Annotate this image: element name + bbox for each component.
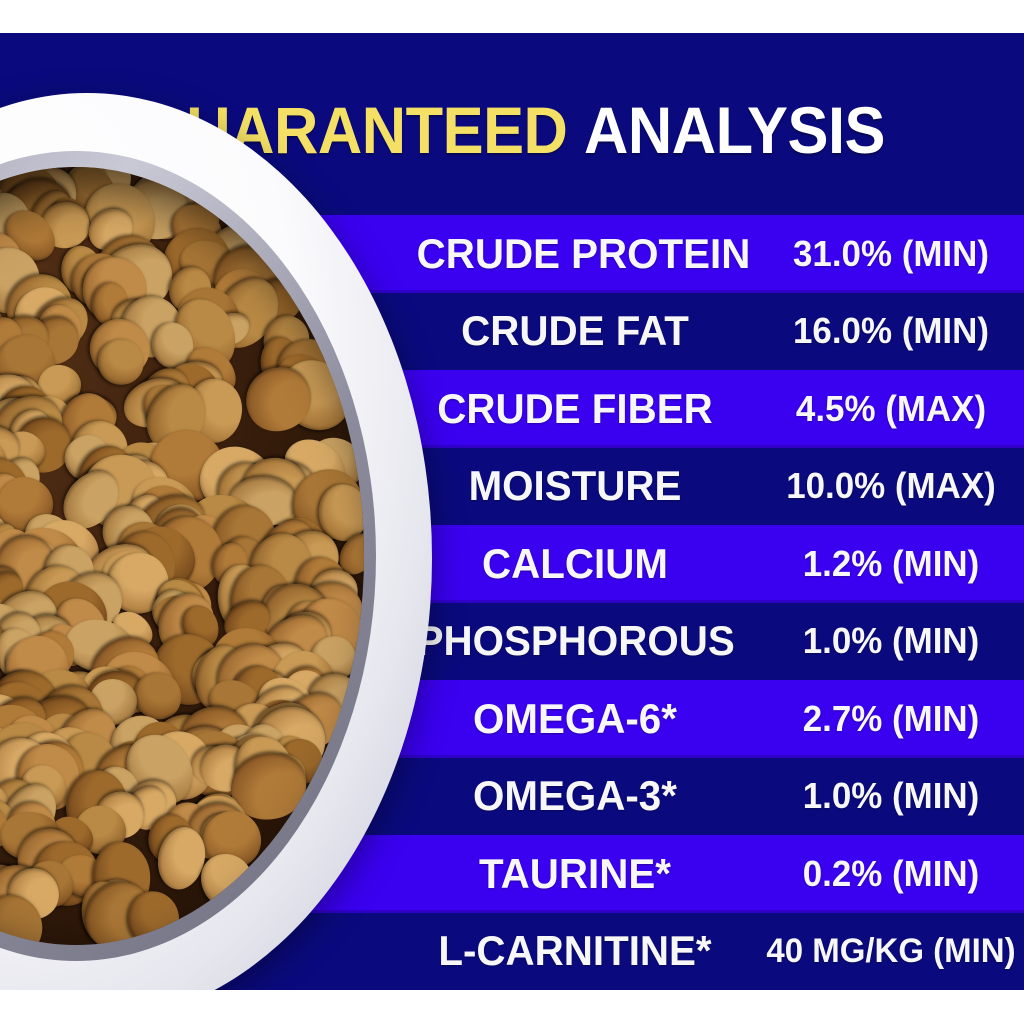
table-row: CRUDE FIBER4.5% (MAX) (0, 370, 1024, 448)
title-rest (567, 93, 584, 167)
table-row: CALCIUM1.2% (MIN) (0, 525, 1024, 603)
nutrient-value: 1.0% (MIN) (766, 778, 1016, 814)
nutrient-value: 0.2% (MIN) (766, 856, 1016, 892)
title-highlight: GUARANTEED (139, 93, 567, 167)
table-row: L-CARNITINE*40 MG/KG (MIN) (0, 913, 1024, 991)
nutrient-label: OMEGA-6* (417, 698, 734, 740)
table-row: CRUDE PROTEIN31.0% (MIN) (0, 215, 1024, 293)
nutrient-value: 16.0% (MIN) (766, 313, 1016, 349)
table-row: OMEGA-6*2.7% (MIN) (0, 680, 1024, 758)
nutrient-value: 4.5% (MAX) (766, 391, 1016, 427)
guaranteed-analysis-panel: GUARANTEED ANALYSIS CRUDE PROTEIN31.0% (… (0, 0, 1024, 1024)
nutrient-label: OMEGA-3* (417, 775, 734, 817)
kibble-piece (78, 167, 137, 209)
table-row: MOISTURE10.0% (MAX) (0, 448, 1024, 526)
table-row: TAURINE*0.2% (MIN) (0, 835, 1024, 913)
page-title: GUARANTEED ANALYSIS (36, 97, 988, 163)
analysis-table: CRUDE PROTEIN31.0% (MIN)CRUDE FAT16.0% (… (0, 215, 1024, 990)
nutrient-label: TAURINE* (417, 853, 734, 895)
kibble-piece (59, 167, 112, 207)
nutrient-label: MOISTURE (417, 465, 734, 507)
nutrient-label: CRUDE FAT (417, 310, 734, 352)
nutrient-label: CRUDE PROTEIN (417, 233, 734, 275)
kibble-piece (0, 167, 24, 218)
nutrient-value: 40 MG/KG (MIN) (766, 934, 1016, 968)
table-row: CRUDE FAT16.0% (MIN) (0, 293, 1024, 371)
nutrient-value: 1.0% (MIN) (766, 623, 1016, 659)
nutrient-value: 10.0% (MAX) (766, 468, 1016, 504)
navy-background-panel: GUARANTEED ANALYSIS CRUDE PROTEIN31.0% (… (0, 33, 1024, 990)
table-row: OMEGA-3*1.0% (MIN) (0, 758, 1024, 836)
nutrient-label: PHOSPHOROUS (417, 620, 734, 662)
title-rest-text: ANALYSIS (584, 93, 885, 167)
nutrient-value: 2.7% (MIN) (766, 701, 1016, 737)
nutrient-label: L-CARNITINE* (417, 930, 734, 972)
nutrient-label: CALCIUM (417, 543, 734, 585)
nutrient-label: CRUDE FIBER (417, 388, 734, 430)
nutrient-value: 1.2% (MIN) (766, 546, 1016, 582)
table-row: PHOSPHOROUS1.0% (MIN) (0, 603, 1024, 681)
nutrient-value: 31.0% (MIN) (766, 236, 1016, 272)
